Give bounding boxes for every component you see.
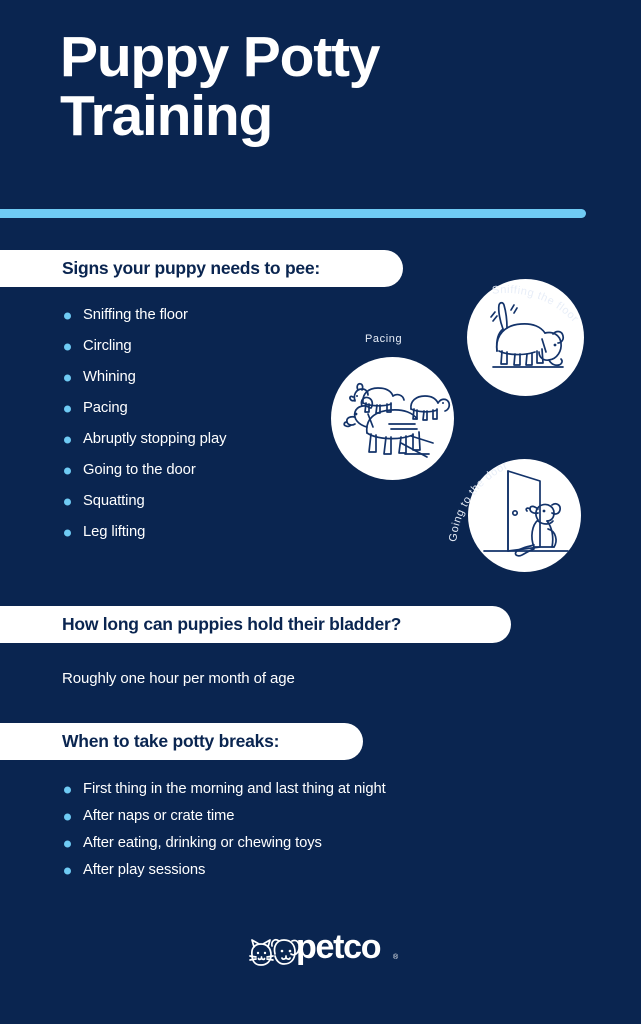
- section-heading-signs: Signs your puppy needs to pee:: [0, 250, 403, 287]
- illustration-door: Going to the door: [468, 459, 581, 572]
- list-item: First thing in the morning and last thin…: [62, 776, 386, 803]
- section-heading-breaks-label: When to take potty breaks:: [62, 731, 279, 752]
- list-item: Going to the door: [62, 455, 226, 486]
- list-item: Sniffing the floor: [62, 300, 226, 331]
- list-item: Leg lifting: [62, 517, 226, 548]
- section-heading-bladder-label: How long can puppies hold their bladder?: [62, 614, 401, 635]
- illustration-label-pacing: Pacing: [365, 333, 402, 345]
- section-heading-bladder: How long can puppies hold their bladder?: [0, 606, 511, 643]
- list-item: Pacing: [62, 393, 226, 424]
- petco-cat-dog-logo-icon: [248, 932, 300, 968]
- svg-text:Sniffing the floor: Sniffing the floor: [491, 284, 580, 325]
- section-heading-signs-label: Signs your puppy needs to pee:: [62, 258, 320, 279]
- list-item: After eating, drinking or chewing toys: [62, 830, 386, 857]
- list-item: Abruptly stopping play: [62, 424, 226, 455]
- list-item: Circling: [62, 331, 226, 362]
- breaks-list: First thing in the morning and last thin…: [62, 776, 386, 884]
- list-item: Squatting: [62, 486, 226, 517]
- signs-list: Sniffing the floor Circling Whining Paci…: [62, 300, 226, 548]
- section-heading-breaks: When to take potty breaks:: [0, 723, 363, 760]
- illustration-label-door: Going to the door: [422, 423, 622, 623]
- registered-trademark-mark: ®: [393, 954, 398, 961]
- accent-divider: [0, 209, 586, 218]
- illustration-label-text: Sniffing the floor: [491, 284, 580, 325]
- petco-wordmark: petco: [296, 927, 380, 967]
- infographic-canvas: Puppy Potty Training Signs your puppy ne…: [0, 0, 641, 1024]
- petco-logo: petco ®: [248, 926, 398, 972]
- svg-text:Going to the door: Going to the door: [447, 460, 510, 543]
- list-item: Whining: [62, 362, 226, 393]
- page-title: Puppy Potty Training: [60, 28, 580, 145]
- illustration-label-sniffing: Sniffing the floor: [431, 233, 631, 433]
- bladder-answer-text: Roughly one hour per month of age: [62, 670, 295, 687]
- list-item: After play sessions: [62, 857, 386, 884]
- illustration-sniffing: Sniffing the floor: [467, 279, 584, 396]
- illustration-label-text: Going to the door: [447, 460, 510, 543]
- list-item: After naps or crate time: [62, 803, 386, 830]
